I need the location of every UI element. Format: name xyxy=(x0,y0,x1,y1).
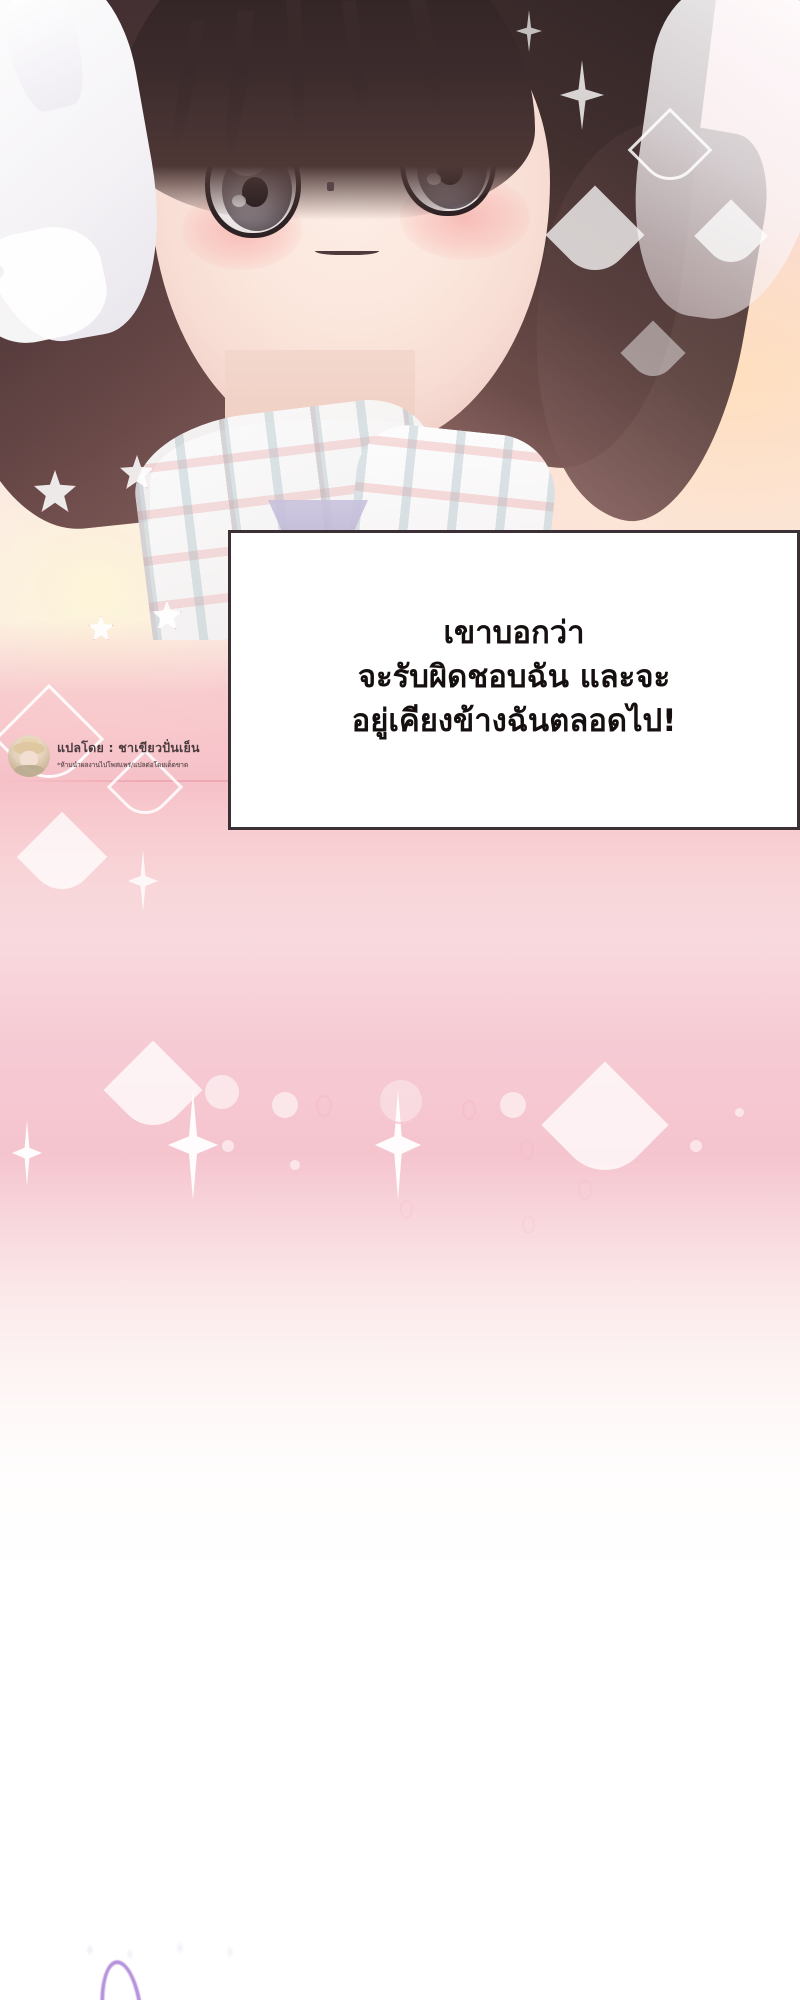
dialogue-line-2: จะรับผิดชอบฉัน และจะ xyxy=(358,655,670,699)
webtoon-page: แปลโดย : ชาเขียวปั่นเย็น *ห้ามนำผลงานไปโ… xyxy=(0,0,800,2000)
translator-notice: *ห้ามนำผลงานไปโพสแพร่/แปลต่อโดยเด็ดขาด xyxy=(57,760,200,770)
flower-icon-1 xyxy=(205,1075,239,1109)
flower-icon-3 xyxy=(500,1092,526,1118)
dialogue-line-1: เขาบอกว่า xyxy=(443,611,584,655)
dialogue-box: เขาบอกว่า จะรับผิดชอบฉัน และจะ อยู่เคียง… xyxy=(228,530,800,830)
translator-credit-text: แปลโดย : ชาเขียวปั่นเย็น *ห้ามนำผลงานไปโ… xyxy=(57,735,200,770)
flower-icon-4 xyxy=(378,1078,424,1124)
flower-icon-2 xyxy=(272,1092,298,1118)
avatar-body xyxy=(14,765,44,777)
dialogue-line-3: อยู่เคียงข้างฉันตลอดไป! xyxy=(352,699,677,743)
translator-name: แปลโดย : ชาเขียวปั่นเย็น xyxy=(57,738,200,758)
mouth xyxy=(315,245,379,255)
flower-ring-icon-1 xyxy=(316,1095,332,1117)
flower-ring-icon-2 xyxy=(462,1100,476,1120)
background-fade-white xyxy=(0,1150,800,1610)
nose xyxy=(327,182,334,191)
light-dot-4 xyxy=(735,1108,744,1117)
translator-avatar-icon xyxy=(8,735,50,777)
translator-credit: แปลโดย : ชาเขียวปั่นเย็น *ห้ามนำผลงานไปโ… xyxy=(8,735,200,777)
